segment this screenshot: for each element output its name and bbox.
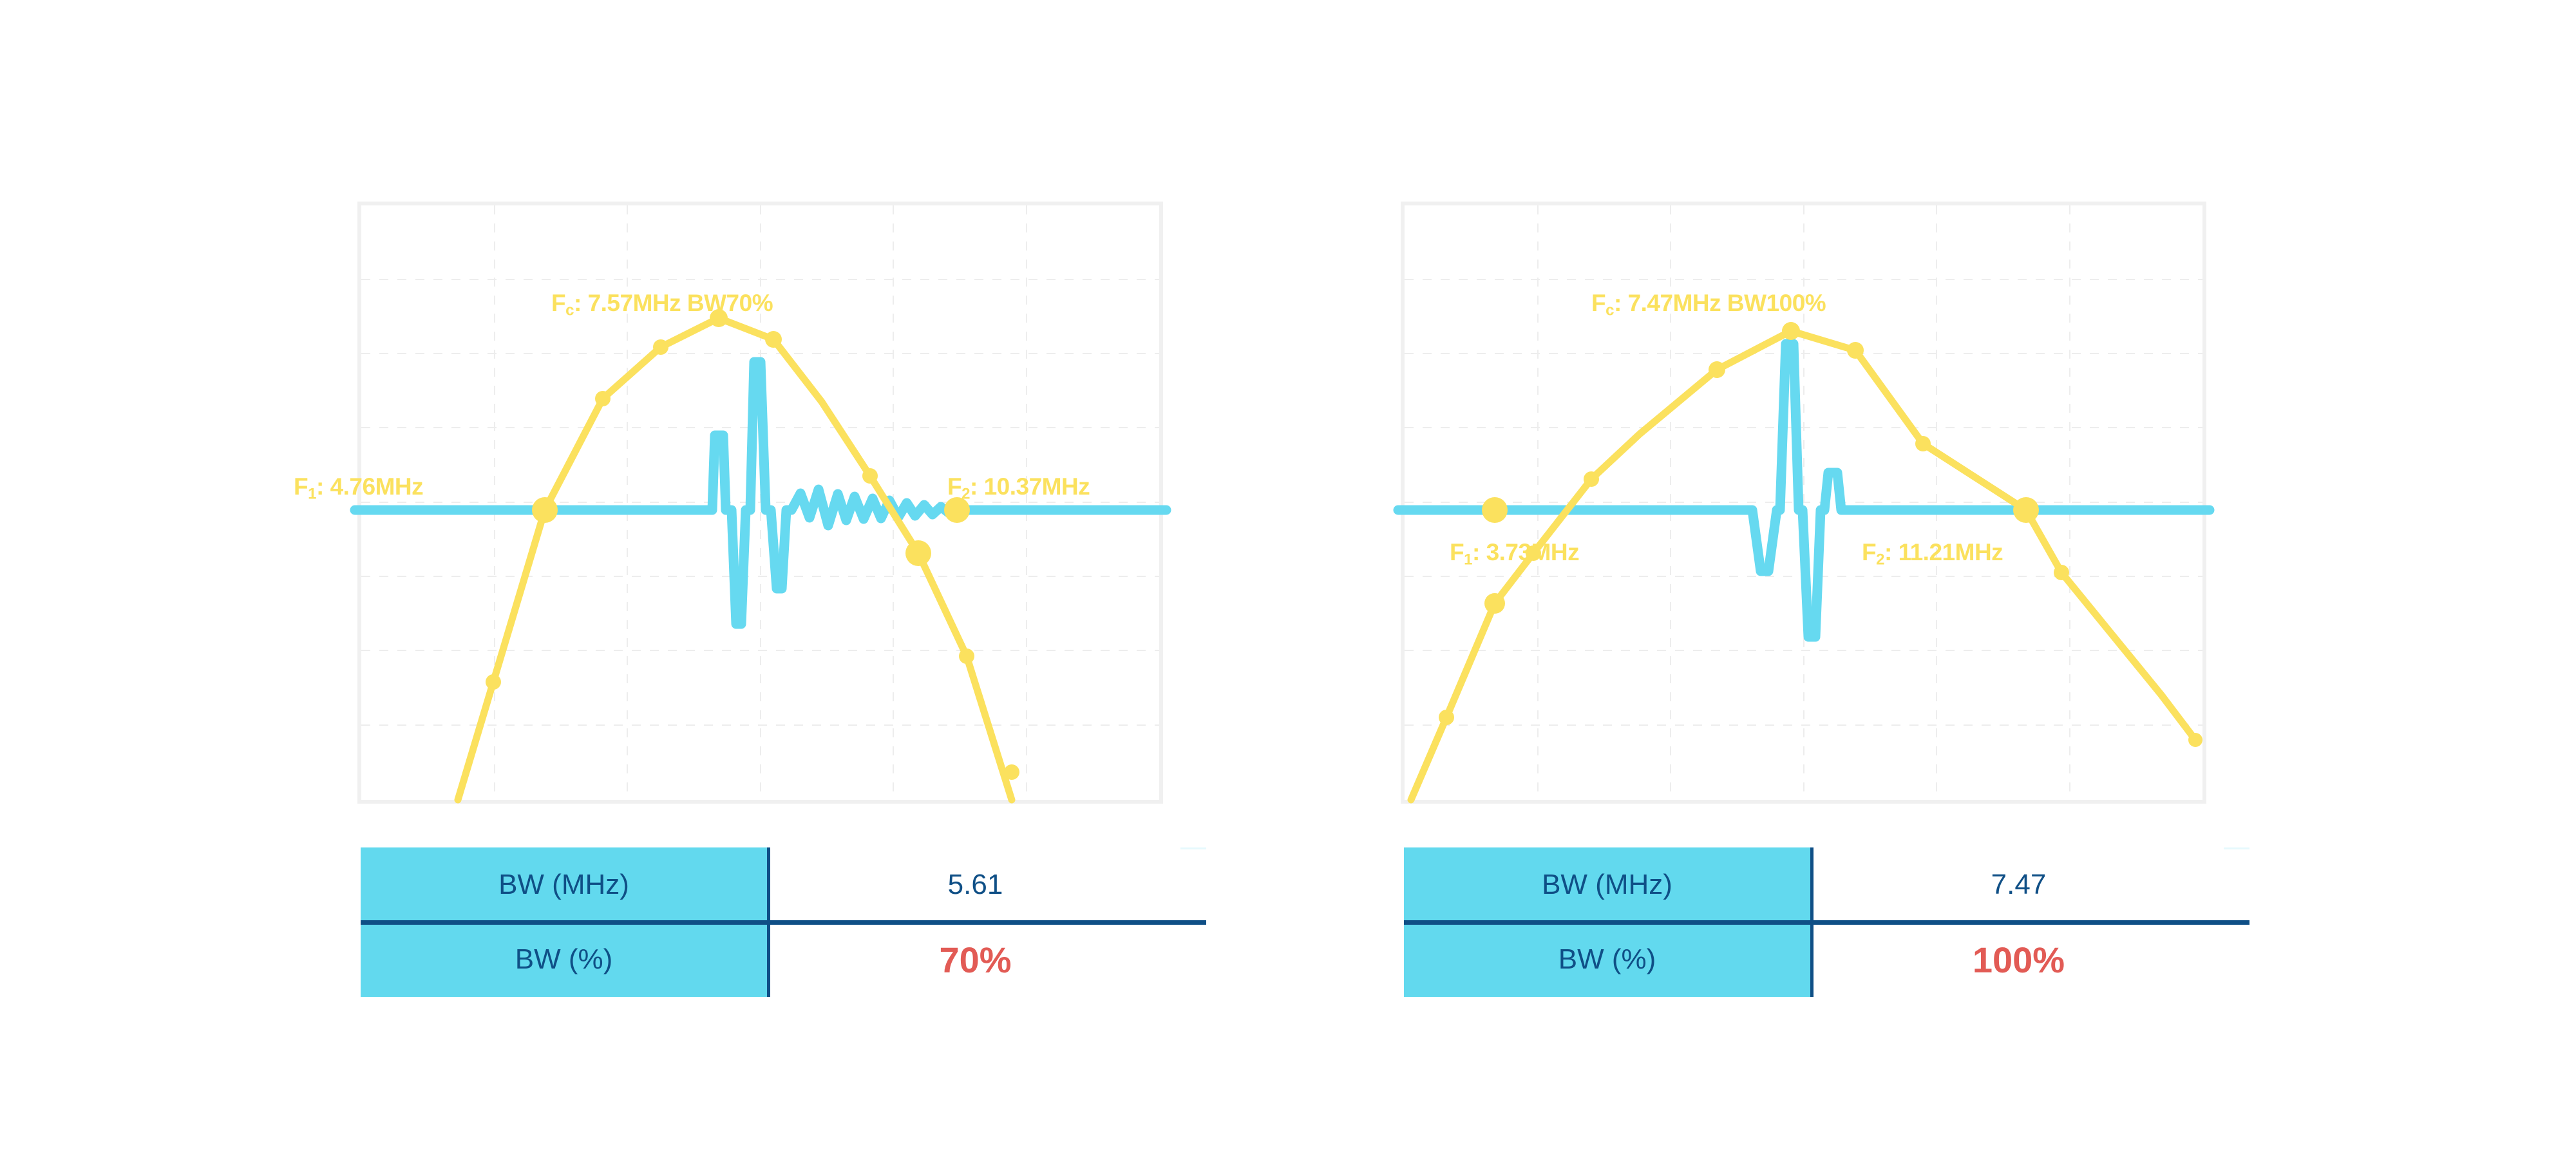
- annotation-center-left: Fc: 7.57MHz BW70%: [551, 291, 773, 319]
- chart-panel-right: Fc: 7.47MHz BW100% F1: 3.73MHz F2: 11.21…: [1401, 202, 2206, 804]
- chart-panel-left: Fc: 7.57MHz BW70% F1: 4.76MHz F2: 10.37M…: [357, 202, 1163, 804]
- f2-marker-right: [2013, 497, 2039, 523]
- f2-symbol-right: F: [1862, 539, 1876, 565]
- fc-text-left: : 7.57MHz BW70%: [574, 290, 773, 316]
- f1-subscript-left: 1: [308, 486, 316, 503]
- f1-symbol-right: F: [1450, 539, 1464, 565]
- fc-text-right: : 7.47MHz BW100%: [1614, 290, 1826, 316]
- bw-table-left: BW (MHz) 5.61 BW (%) 70%: [361, 847, 1180, 997]
- fc-subscript-right: c: [1605, 302, 1614, 319]
- bw-mhz-value-left: 5.61: [948, 869, 1003, 901]
- bw-table-row: BW (MHz) 7.47: [1404, 847, 2224, 922]
- f1-symbol-left: F: [294, 473, 308, 500]
- bw-pct-value-left: 70%: [939, 939, 1011, 981]
- f1-text-left: : 4.76MHz: [316, 473, 423, 500]
- f2-text-right: : 11.21MHz: [1884, 539, 2003, 565]
- bw-table-row: BW (MHz) 5.61: [361, 847, 1180, 922]
- bw-mhz-value-right: 7.47: [1991, 869, 2047, 901]
- bw-pct-value-cell-right: 100%: [1814, 922, 2224, 997]
- bw-mhz-label-left: BW (MHz): [361, 847, 770, 922]
- annotation-f1-left: F1: 4.76MHz: [294, 475, 423, 502]
- fc-symbol-left: F: [551, 290, 565, 316]
- fc-symbol-right: F: [1591, 290, 1605, 316]
- bw-mhz-label-right: BW (MHz): [1404, 847, 1814, 922]
- bw-table-row: BW (%) 70%: [361, 922, 1180, 997]
- comparison-figure: Fc: 7.57MHz BW70% F1: 4.76MHz F2: 10.37M…: [0, 0, 2576, 1154]
- bw-divider-left: [361, 920, 1206, 925]
- f1-marker-right: [1482, 497, 1508, 523]
- bw-mhz-value-cell-right: 7.47: [1814, 847, 2224, 922]
- annotation-center-right: Fc: 7.47MHz BW100%: [1591, 291, 1826, 319]
- bw-pct-label-left: BW (%): [361, 922, 770, 997]
- bw-pct-value-cell-left: 70%: [770, 922, 1180, 997]
- bw-pct-label-right: BW (%): [1404, 922, 1814, 997]
- bw-mhz-value-cell-left: 5.61: [770, 847, 1180, 922]
- bw-pct-value-right: 100%: [1973, 939, 2065, 981]
- f2-subscript-right: 2: [1876, 551, 1884, 569]
- bw-divider-right: [1404, 920, 2249, 925]
- annotation-f2-left: F2: 10.37MHz: [947, 475, 1090, 502]
- annotation-f2-right: F2: 11.21MHz: [1862, 540, 2003, 568]
- bw-table-row: BW (%) 100%: [1404, 922, 2224, 997]
- f2-subscript-left: 2: [961, 486, 970, 503]
- f2-text-left: : 10.37MHz: [970, 473, 1090, 500]
- annotation-f1-right: F1: 3.73MHz: [1450, 540, 1579, 568]
- fc-subscript-left: c: [565, 302, 574, 319]
- f2-symbol-left: F: [947, 473, 961, 500]
- f1-text-right: : 3.73MHz: [1472, 539, 1579, 565]
- bw-table-right: BW (MHz) 7.47 BW (%) 100%: [1404, 847, 2224, 997]
- f1-subscript-right: 1: [1464, 551, 1472, 569]
